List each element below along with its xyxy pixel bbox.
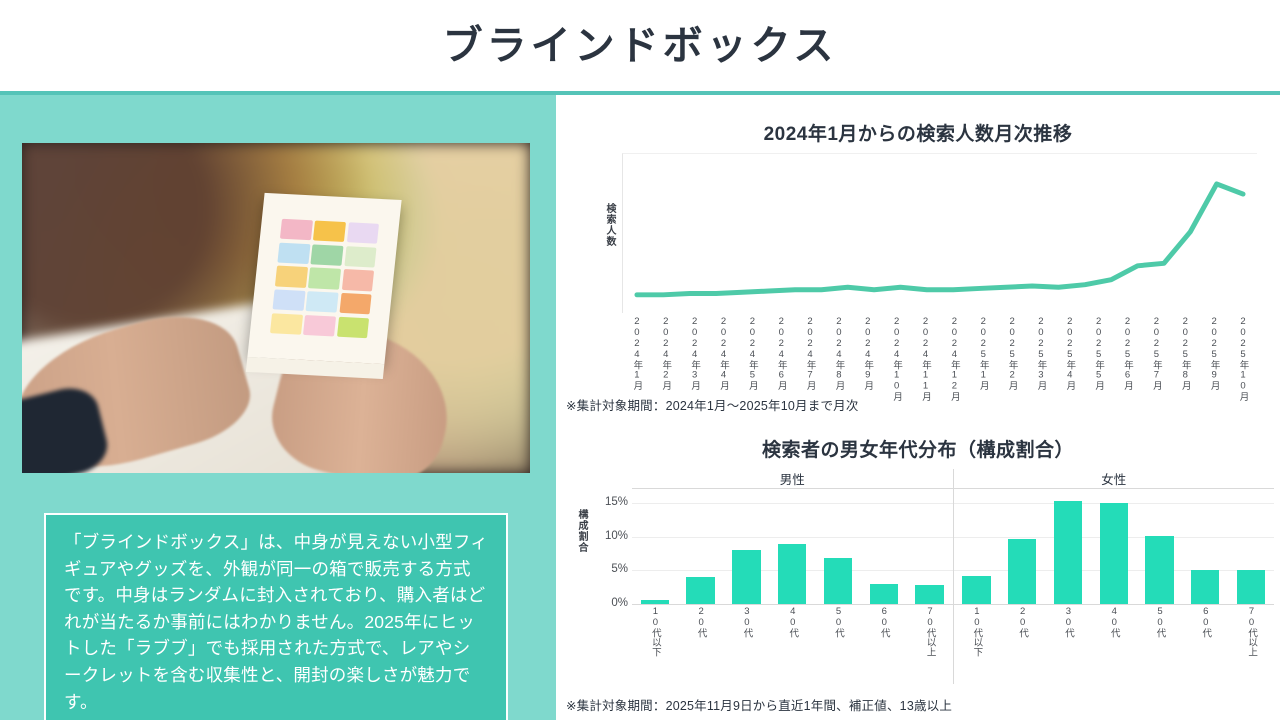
bar-slot	[678, 490, 724, 604]
photo-box-cell	[311, 244, 343, 266]
bar-x-tick: 40代	[1091, 606, 1137, 676]
bar-panels: 男性10代以下20代30代40代50代60代70代以上女性10代以下20代30代…	[632, 469, 1274, 684]
bar-x-tick: 70代以上	[907, 606, 953, 676]
photo-product-box	[247, 193, 401, 364]
line-x-tick-label: 2024年6月	[774, 316, 788, 402]
line-x-tick: 2024年12月	[939, 316, 968, 402]
bar-series	[954, 490, 1275, 604]
bar-y-axis-ticks: 0%5%10%15%	[590, 489, 632, 604]
bar-panel-title: 女性	[954, 469, 1275, 489]
photo-box-cell	[313, 221, 345, 243]
bar-slot	[724, 490, 770, 604]
bar-x-tick-label: 40代	[785, 606, 799, 676]
photo-box-cell	[346, 222, 378, 244]
photo-box-cell	[344, 246, 376, 268]
bar-x-tick-label: 50代	[1153, 606, 1167, 676]
line-x-tick: 2025年9月	[1199, 316, 1228, 402]
bar-panel: 男性10代以下20代30代40代50代60代70代以上	[632, 469, 953, 684]
bar-slot	[861, 490, 907, 604]
bar-slot	[632, 490, 678, 604]
bar	[1237, 570, 1265, 604]
bar-slot	[1045, 490, 1091, 604]
line-x-tick-label: 2024年10月	[889, 316, 903, 402]
bar-x-tick: 10代以下	[954, 606, 1000, 676]
line-x-tick-label: 2025年4月	[1062, 316, 1076, 402]
bar-x-tick: 20代	[678, 606, 724, 676]
slide-root: ブラインドボックス 「ブラインドボックス」は、中身が見えない小型フィギュアやグッ…	[0, 0, 1280, 720]
bar-x-tick: 50代	[815, 606, 861, 676]
line-x-tick: 2024年4月	[709, 316, 738, 402]
photo-box-cell	[306, 291, 338, 313]
page-title: ブラインドボックス	[443, 26, 838, 66]
bar-slot	[954, 490, 1000, 604]
line-x-tick-label: 2025年6月	[1120, 316, 1134, 402]
bar-y-axis-label: 構成割合	[574, 509, 589, 599]
bar	[1008, 539, 1036, 604]
line-x-tick: 2025年8月	[1170, 316, 1199, 402]
photo-box-cell	[270, 313, 302, 335]
line-x-tick: 2025年7月	[1141, 316, 1170, 402]
bar-x-tick: 10代以下	[632, 606, 678, 676]
photo-box-cell	[339, 293, 371, 315]
line-x-tick: 2025年4月	[1055, 316, 1084, 402]
bar-x-tick: 40代	[769, 606, 815, 676]
bar	[824, 558, 852, 604]
line-x-tick: 2024年8月	[824, 316, 853, 402]
bar-panel-plot	[954, 490, 1275, 604]
bar-chart-block: 検索者の男女年代分布（構成割合） 構成割合 0%5%10%15% 男性10代以下…	[556, 435, 1280, 720]
line-x-tick: 2025年1月	[968, 316, 997, 402]
line-x-tick: 2024年9月	[853, 316, 882, 402]
line-series	[623, 154, 1257, 313]
line-x-tick-label: 2024年1月	[629, 316, 643, 402]
photo-box-cell	[277, 242, 309, 264]
bar	[686, 577, 714, 604]
line-chart-block: 2024年1月からの検索人数月次推移 検索人数 2024年1月2024年2月20…	[556, 115, 1280, 415]
bar-slot	[1091, 490, 1137, 604]
line-chart-note: ※集計対象期間：2024年1月～2025年10月まで月次	[566, 395, 859, 414]
line-x-tick-label: 2025年2月	[1005, 316, 1019, 402]
photo-box-cell	[308, 267, 340, 289]
line-x-tick-label: 2024年12月	[947, 316, 961, 402]
bar-y-tick-label: 15%	[605, 496, 628, 508]
bar-series	[632, 490, 953, 604]
bar-x-tick-label: 50代	[831, 606, 845, 676]
photo-box-cell	[336, 316, 368, 338]
photo-box-cell	[275, 266, 307, 288]
bar-x-tick: 30代	[1045, 606, 1091, 676]
left-panel: 「ブラインドボックス」は、中身が見えない小型フィギュアやグッズを、外観が同一の箱…	[0, 95, 556, 720]
line-x-tick: 2024年11月	[911, 316, 940, 402]
slide-header: ブラインドボックス	[0, 0, 1280, 92]
bar-axis-baseline	[632, 604, 1274, 605]
bar-panel-plot	[632, 490, 953, 604]
line-x-tick: 2024年3月	[680, 316, 709, 402]
line-x-tick: 2024年1月	[622, 316, 651, 402]
photo-box-cell	[280, 219, 312, 241]
line-x-tick-label: 2024年4月	[716, 316, 730, 402]
line-x-tick-label: 2025年10月	[1235, 316, 1249, 402]
line-x-tick-label: 2024年5月	[745, 316, 759, 402]
bar-x-tick-label: 10代以下	[648, 606, 662, 676]
line-x-tick-label: 2025年3月	[1033, 316, 1047, 402]
photo-box-cell	[272, 289, 304, 311]
blind-box-photo	[22, 143, 530, 473]
line-plot-area	[622, 153, 1257, 313]
bar-x-tick-label: 20代	[694, 606, 708, 676]
bar	[1191, 570, 1219, 604]
bar-y-tick-label: 10%	[605, 530, 628, 542]
bar-panel-title: 男性	[632, 469, 953, 489]
line-x-tick-label: 2025年1月	[976, 316, 990, 402]
line-x-axis-labels: 2024年1月2024年2月2024年3月2024年4月2024年5月2024年…	[622, 316, 1257, 402]
line-x-tick: 2025年2月	[997, 316, 1026, 402]
bar-slot	[1228, 490, 1274, 604]
bar	[1054, 501, 1082, 604]
description-box: 「ブラインドボックス」は、中身が見えない小型フィギュアやグッズを、外観が同一の箱…	[44, 513, 508, 720]
bar-slot	[999, 490, 1045, 604]
bar-x-tick-label: 30代	[739, 606, 753, 676]
line-y-axis-label: 検索人数	[602, 203, 617, 323]
bar-chart-title: 検索者の男女年代分布（構成割合）	[556, 435, 1280, 462]
line-x-tick-label: 2024年8月	[831, 316, 845, 402]
bar-x-tick: 50代	[1137, 606, 1183, 676]
line-x-tick-label: 2024年2月	[658, 316, 672, 402]
bar-x-tick-label: 60代	[877, 606, 891, 676]
line-chart: 検索人数 2024年1月2024年2月2024年3月2024年4月2024年5月…	[574, 153, 1274, 403]
bar-x-tick-label: 10代以下	[969, 606, 983, 676]
line-x-tick: 2024年2月	[651, 316, 680, 402]
right-column: 2024年1月からの検索人数月次推移 検索人数 2024年1月2024年2月20…	[556, 95, 1280, 720]
bar	[1145, 536, 1173, 604]
photo-box-cell	[303, 314, 335, 336]
line-x-tick: 2025年6月	[1113, 316, 1142, 402]
line-x-tick-label: 2025年8月	[1178, 316, 1192, 402]
bar-slot	[769, 490, 815, 604]
line-x-tick: 2024年5月	[737, 316, 766, 402]
bar-x-tick-label: 30代	[1061, 606, 1075, 676]
line-x-tick: 2024年6月	[766, 316, 795, 402]
line-x-tick: 2024年10月	[882, 316, 911, 402]
bar-x-tick-label: 70代以上	[923, 606, 937, 676]
bar-y-tick-label: 0%	[611, 597, 628, 609]
bar-chart: 構成割合 0%5%10%15% 男性10代以下20代30代40代50代60代70…	[574, 469, 1274, 684]
bar	[732, 550, 760, 604]
photo-content	[22, 143, 530, 473]
bar	[778, 544, 806, 604]
line-x-tick: 2025年3月	[1026, 316, 1055, 402]
bar	[915, 585, 943, 604]
bar-y-tick-label: 5%	[611, 563, 628, 575]
bar-x-tick-label: 40代	[1107, 606, 1121, 676]
line-x-tick: 2025年10月	[1228, 316, 1257, 402]
line-x-tick-label: 2024年7月	[803, 316, 817, 402]
line-x-tick-label: 2024年11月	[918, 316, 932, 402]
bar-x-tick: 70代以上	[1228, 606, 1274, 676]
line-x-tick-label: 2025年5月	[1091, 316, 1105, 402]
line-x-tick-label: 2025年7月	[1149, 316, 1163, 402]
line-x-tick-label: 2025年9月	[1207, 316, 1221, 402]
line-x-tick-label: 2024年9月	[860, 316, 874, 402]
bar-x-tick-label: 20代	[1015, 606, 1029, 676]
bar-panel: 女性10代以下20代30代40代50代60代70代以上	[953, 469, 1275, 684]
bar-x-tick: 30代	[724, 606, 770, 676]
bar-x-axis-labels: 10代以下20代30代40代50代60代70代以上	[632, 606, 953, 676]
bar-slot	[815, 490, 861, 604]
bar-chart-note: ※集計対象期間：2025年11月9日から直近1年間、補正値、13歳以上	[566, 695, 952, 714]
bar-x-axis-labels: 10代以下20代30代40代50代60代70代以上	[954, 606, 1275, 676]
bar-slot	[1182, 490, 1228, 604]
bar-x-tick: 60代	[861, 606, 907, 676]
line-chart-title: 2024年1月からの検索人数月次推移	[556, 119, 1280, 146]
line-x-tick: 2024年7月	[795, 316, 824, 402]
bar-x-tick: 20代	[999, 606, 1045, 676]
bar	[870, 584, 898, 604]
bar-slot	[907, 490, 953, 604]
photo-box-cell	[341, 269, 373, 291]
bar-slot	[1137, 490, 1183, 604]
bar	[962, 576, 990, 604]
bar-x-tick-label: 70代以上	[1244, 606, 1258, 676]
line-x-tick: 2025年5月	[1084, 316, 1113, 402]
bar	[1100, 503, 1128, 604]
line-x-tick-label: 2024年3月	[687, 316, 701, 402]
bar-x-tick-label: 60代	[1198, 606, 1212, 676]
bar-x-tick: 60代	[1182, 606, 1228, 676]
description-text: 「ブラインドボックス」は、中身が見えない小型フィギュアやグッズを、外観が同一の箱…	[64, 529, 488, 715]
